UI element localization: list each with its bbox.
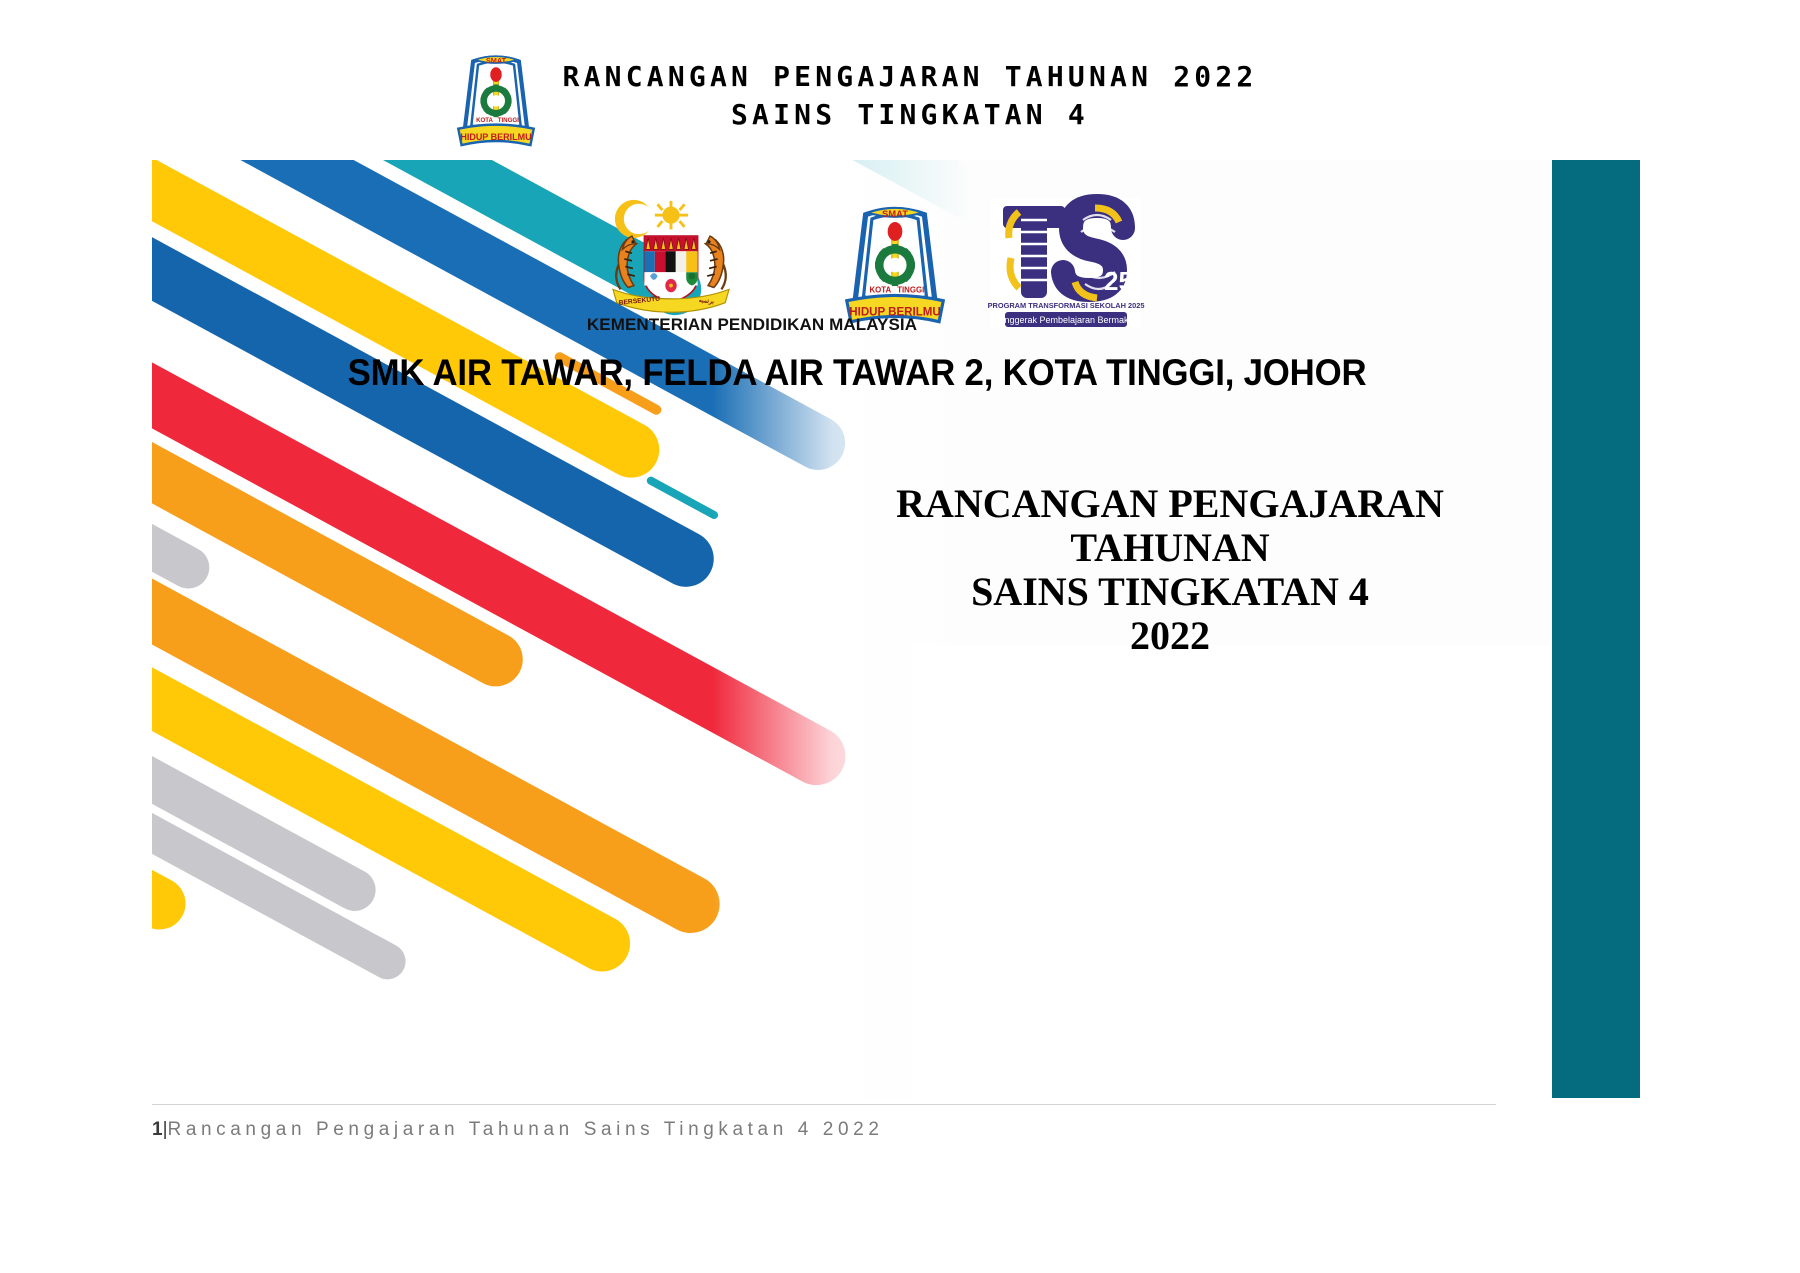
header-title-line-1: RANCANGAN PENGAJARAN TAHUNAN 2022 <box>560 58 1260 96</box>
ts25-caption: PROGRAM TRANSFORMASI SEKOLAH 2025 <box>988 301 1145 310</box>
crest-mid-text-right: TINGGI <box>897 285 924 294</box>
svg-text:SMAT: SMAT <box>486 56 507 65</box>
crest-mid-text-left: KOTA <box>869 285 891 294</box>
ministry-caption: KEMENTERIAN PENDIDIKAN MALAYSIA <box>472 315 1032 335</box>
school-crest-icon: SMAT KOTA TINGGI HIDUP BERILMU <box>455 50 537 150</box>
document-title-line-2: TAHUNAN <box>800 526 1540 570</box>
malaysia-coat-of-arms-icon: BERSEKUTU برتمبه <box>590 198 752 316</box>
svg-text:HIDUP BERILMU: HIDUP BERILMU <box>460 132 531 142</box>
footer-text-row: 1|Rancangan Pengajaran Tahunan Sains Tin… <box>152 1119 1496 1141</box>
page-footer: 1|Rancangan Pengajaran Tahunan Sains Tin… <box>152 1104 1496 1141</box>
footer-label: Rancangan Pengajaran Tahunan Sains Tingk… <box>168 1119 884 1140</box>
ts25-logo-icon: 25 PROGRAM TRANSFORMASI SEKOLAH 2025 Pen… <box>990 198 1142 328</box>
document-title-block: RANCANGAN PENGAJARAN TAHUNAN SAINS TINGK… <box>800 482 1540 658</box>
document-title-line-4: 2022 <box>800 614 1540 658</box>
logo-row: BERSEKUTU برتمبه SMAT <box>152 198 1640 328</box>
header-title-block: RANCANGAN PENGAJARAN TAHUNAN 2022 SAINS … <box>560 58 1260 134</box>
white-overlay-block <box>912 645 1552 1098</box>
cover-image: BERSEKUTU برتمبه SMAT <box>152 160 1640 1098</box>
document-title-line-3: SAINS TINGKATAN 4 <box>800 570 1540 614</box>
school-name: SMK AIR TAWAR, FELDA AIR TAWAR 2, KOTA T… <box>232 352 1482 394</box>
page-header: SMAT KOTA TINGGI HIDUP BERILMU RANCANGAN… <box>0 48 1800 153</box>
svg-text:TINGGI: TINGGI <box>498 117 519 124</box>
header-title-line-2: SAINS TINGKATAN 4 <box>560 96 1260 134</box>
school-crest-icon: SMAT KOTA TINGGI HIDUP BERILMU <box>840 200 950 328</box>
ts25-year-mark: 25 <box>1104 266 1133 296</box>
footer-page-number: 1 <box>152 1119 163 1140</box>
crest-top-text: SMAT <box>882 209 908 220</box>
svg-text:KOTA: KOTA <box>476 117 493 124</box>
document-title-line-1: RANCANGAN PENGAJARAN <box>800 482 1540 526</box>
